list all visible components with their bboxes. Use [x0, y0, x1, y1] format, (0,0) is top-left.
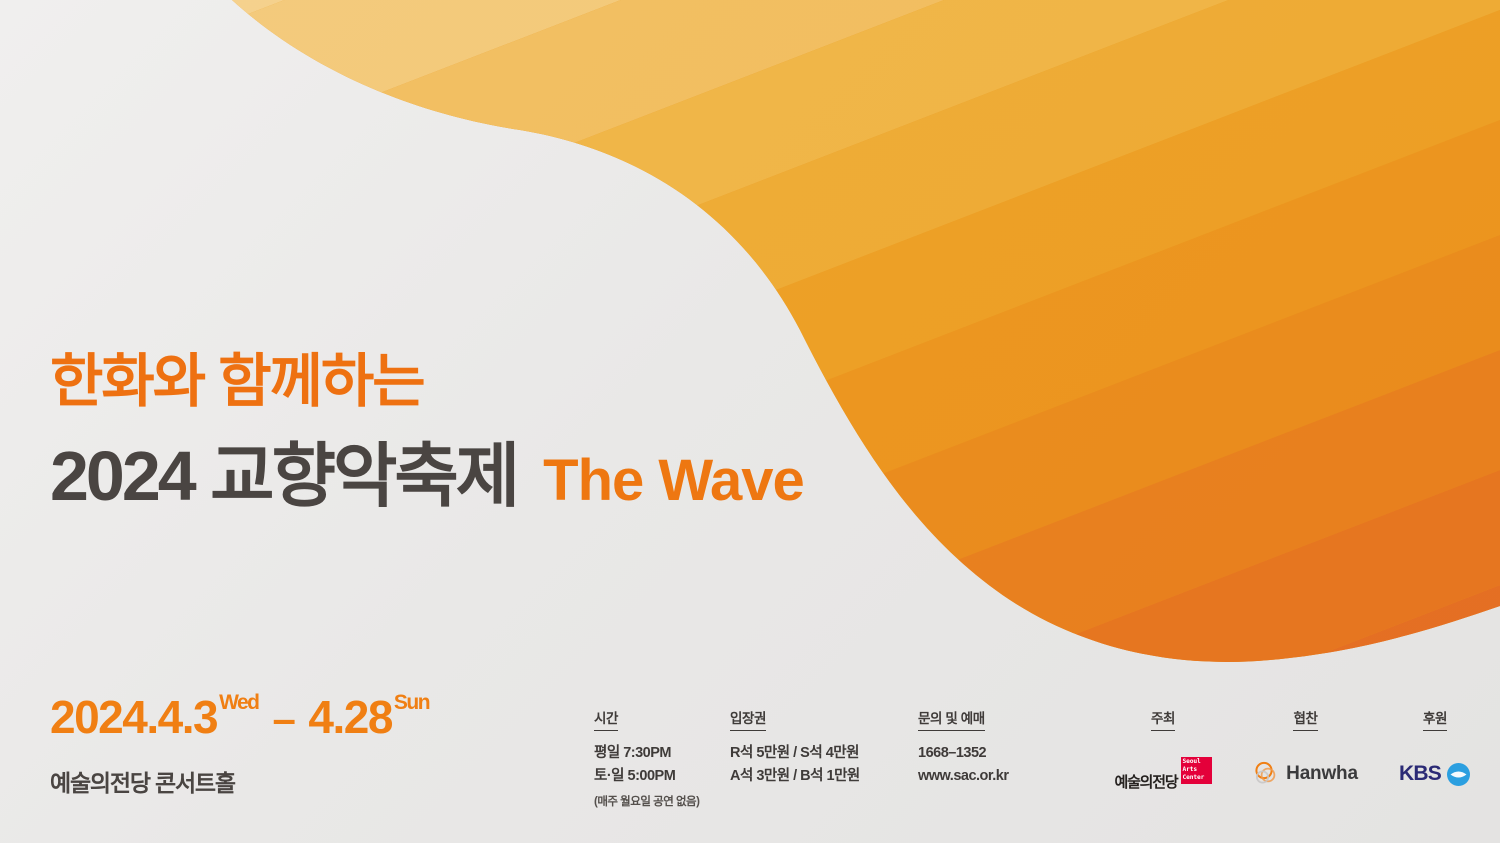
info-ticket-price-rs: R석 5만원 / S석 4만원: [730, 742, 860, 765]
hanwha-wordmark: Hanwha: [1286, 763, 1358, 785]
kbs-wordmark: KBS: [1399, 762, 1441, 786]
info-header-time: 시간: [594, 707, 618, 731]
info-ticket-price-ab: A석 3만원 / B석 1만원: [730, 765, 860, 788]
date-separator: –: [273, 698, 295, 740]
date-start: 2024.4.3: [50, 694, 217, 740]
hanwha-tricircle-icon: [1253, 761, 1279, 787]
sponsor-header-support: 후원: [1423, 707, 1447, 731]
info-time-weekend: 토·일 5:00PM: [594, 765, 699, 788]
page-title: 2024 교향악축제: [50, 441, 517, 512]
info-column-ticket: 입장권 R석 5만원 / S석 4만원 A석 3만원 / B석 1만원: [730, 707, 860, 789]
hanwha-logo: Hanwha: [1243, 757, 1368, 791]
sac-korean-wordmark: 예술의전당: [1114, 771, 1177, 792]
sponsor-column-host: 주최 예술의전당 Seoul Arts Center: [1098, 707, 1228, 791]
info-column-contact: 문의 및 예매 1668–1352 www.sac.or.kr: [918, 707, 1008, 789]
date-start-weekday: Wed: [219, 692, 258, 713]
info-time-weekday: 평일 7:30PM: [594, 742, 699, 765]
seoul-arts-center-logo: 예술의전당 Seoul Arts Center: [1098, 757, 1228, 791]
sponsor-header-host: 주최: [1151, 707, 1175, 731]
headline-english-title: The Wave: [543, 451, 804, 510]
info-contact-phone[interactable]: 1668–1352: [918, 742, 1008, 765]
info-contact-website[interactable]: www.sac.or.kr: [918, 765, 1008, 788]
date-end-weekday: Sun: [394, 692, 429, 713]
headline-block: 한화와 함께하는 2024 교향악축제 The Wave: [50, 352, 804, 512]
kbs-circle-icon: [1446, 762, 1471, 787]
venue-name: 예술의전당 콘서트홀: [50, 764, 429, 798]
headline-subtitle: 한화와 함께하는: [50, 352, 804, 413]
sac-red-mark-icon: Seoul Arts Center: [1181, 757, 1212, 784]
sponsor-header-sponsor: 협찬: [1293, 707, 1317, 731]
info-column-time: 시간 평일 7:30PM 토·일 5:00PM (매주 월요일 공연 없음): [594, 707, 699, 809]
info-header-contact: 문의 및 예매: [918, 707, 985, 731]
info-header-ticket: 입장권: [730, 707, 766, 731]
info-time-note: (매주 월요일 공연 없음): [594, 793, 699, 809]
date-end: 4.28: [308, 694, 392, 740]
sac-mark-line-3: Center: [1183, 774, 1205, 782]
event-date-range: 2024.4.3 Wed – 4.28 Sun: [50, 694, 429, 740]
headline-main-row: 2024 교향악축제 The Wave: [50, 441, 804, 512]
sponsor-column-support: 후원 KBS: [1380, 707, 1490, 791]
date-venue-block: 2024.4.3 Wed – 4.28 Sun 예술의전당 콘서트홀: [50, 694, 429, 798]
kbs-logo: KBS: [1380, 757, 1490, 791]
sponsor-column-sponsor: 협찬 Hanwha: [1243, 707, 1368, 791]
sac-mark-line-2: Arts: [1183, 766, 1198, 774]
poster-canvas: 한화와 함께하는 2024 교향악축제 The Wave 2024.4.3 We…: [0, 0, 1500, 843]
sac-mark-line-1: Seoul: [1183, 758, 1201, 766]
